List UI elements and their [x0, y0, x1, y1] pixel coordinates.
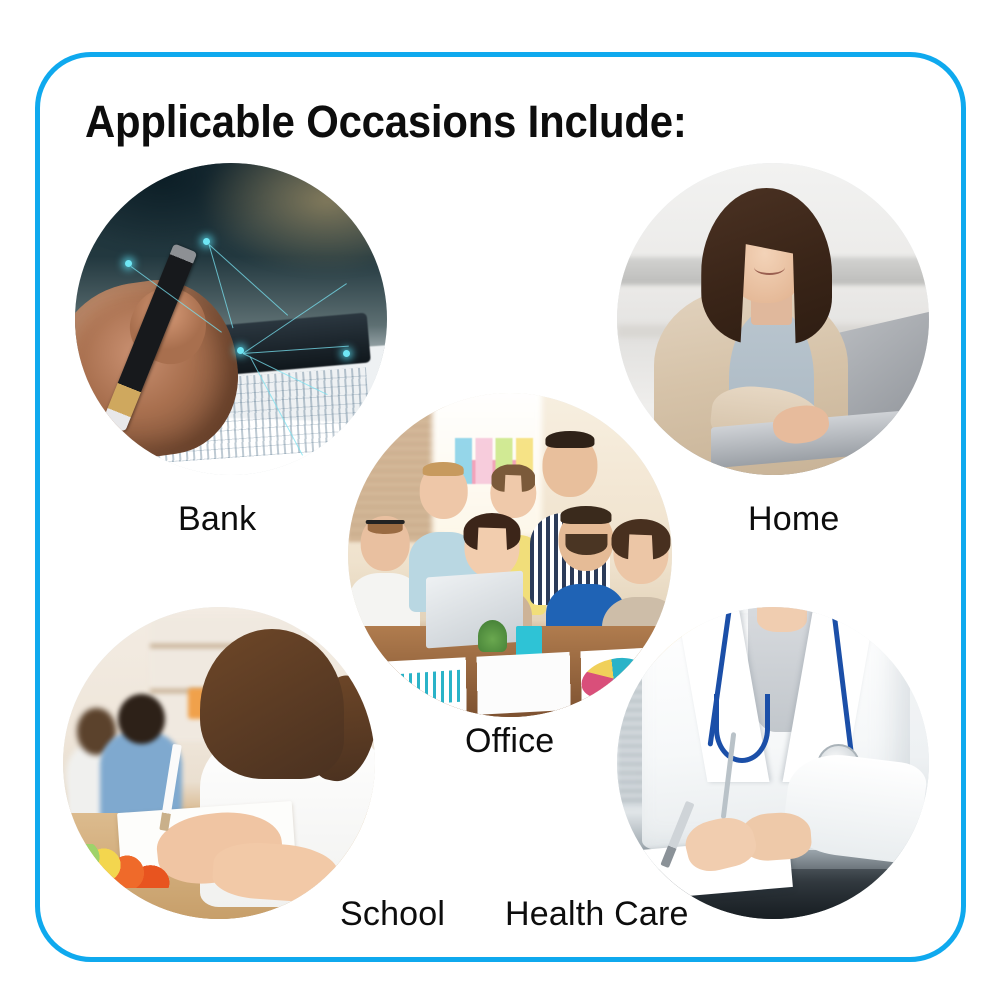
bank-photo: [75, 163, 387, 475]
stethoscope-icon: [714, 694, 770, 763]
occasion-label-health-care: Health Care: [505, 895, 689, 934]
occasion-label-school: School: [340, 895, 445, 934]
infographic-panel: Applicable Occasions Include: Bank: [0, 0, 1000, 1000]
occasion-label-office: Office: [465, 722, 554, 761]
bank-blurred-backdrop: [75, 163, 387, 297]
desk-plant: [478, 620, 507, 652]
page-title: Applicable Occasions Include:: [85, 96, 687, 148]
doctor-neck: [757, 607, 807, 632]
school-photo: [63, 607, 375, 919]
health-care-photo: [617, 607, 929, 919]
bar-chart-printout: [393, 669, 464, 706]
foam-letters: [72, 844, 178, 888]
occasion-label-home: Home: [748, 500, 840, 539]
office-laptop: [426, 571, 523, 649]
school-girl-hair: [200, 629, 344, 779]
occasion-label-bank: Bank: [178, 500, 256, 539]
